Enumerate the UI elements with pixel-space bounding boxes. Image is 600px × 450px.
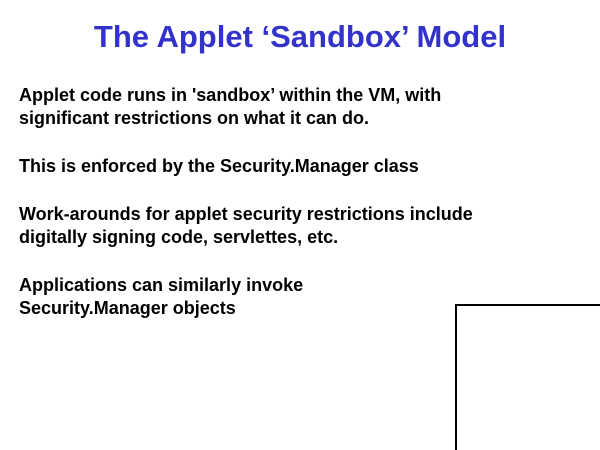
paragraph-sandbox: Applet code runs in 'sandbox’ within the… xyxy=(19,84,579,130)
page-title: The Applet ‘Sandbox’ Model xyxy=(0,20,600,54)
slide-body: Applet code runs in 'sandbox’ within the… xyxy=(19,84,579,320)
rectangle-outline-shape xyxy=(455,304,600,450)
paragraph-workarounds: Work-arounds for applet security restric… xyxy=(19,203,579,249)
slide-canvas: The Applet ‘Sandbox’ Model Applet code r… xyxy=(0,0,600,450)
paragraph-securitymanager: This is enforced by the Security.Manager… xyxy=(19,155,579,178)
